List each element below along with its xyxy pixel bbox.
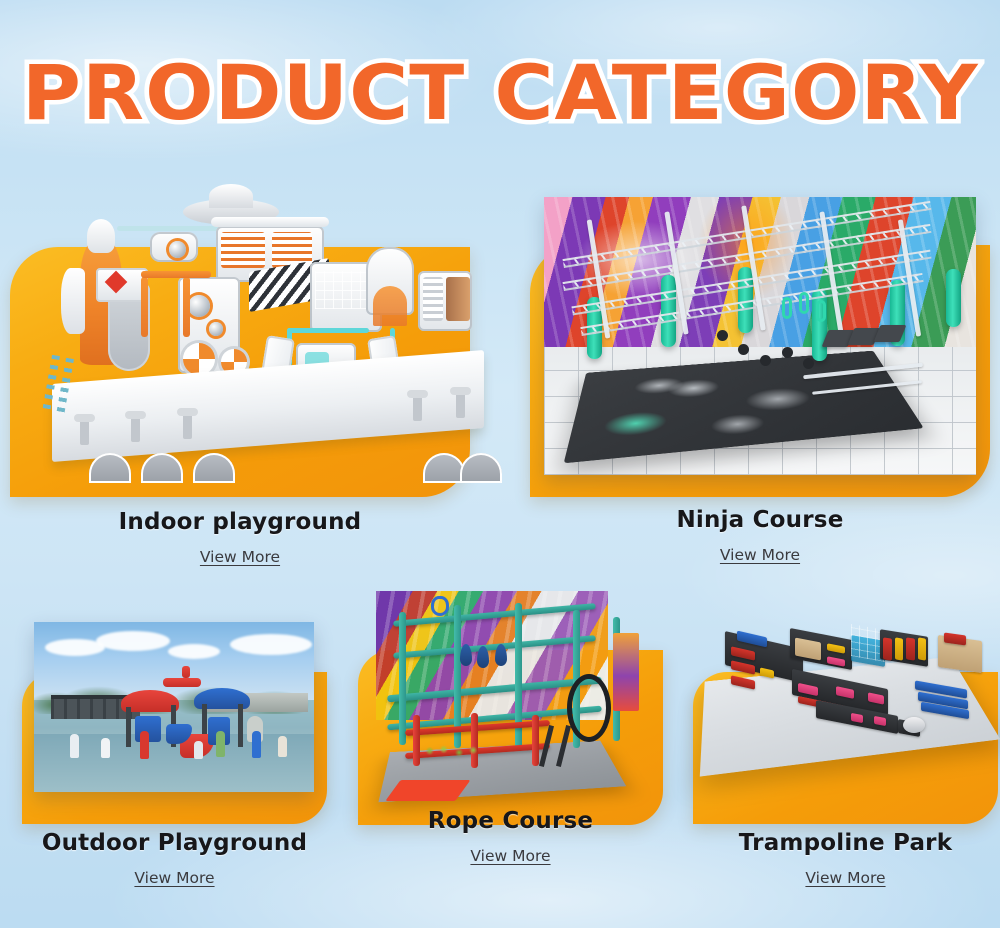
category-image-outdoor-playground [34, 622, 314, 792]
caption-rope-course: Rope Course View More [358, 808, 663, 866]
category-title-trampoline-park: Trampoline Park [693, 830, 998, 856]
category-title-indoor-playground: Indoor playground [10, 509, 470, 535]
page-title: PRODUCT CATEGORY [22, 48, 979, 137]
category-card-rope-course[interactable]: Rope Course View More [358, 650, 663, 825]
view-more-link-rope-course[interactable]: View More [470, 847, 550, 865]
category-image-ninja-course [544, 197, 976, 475]
category-title-rope-course: Rope Course [358, 808, 663, 834]
category-title-outdoor-playground: Outdoor Playground [22, 830, 327, 856]
page-title-wrapper: PRODUCT CATEGORY [0, 48, 1000, 137]
category-card-outdoor-playground[interactable]: Outdoor Playground View More [22, 672, 327, 824]
view-more-link-trampoline-park[interactable]: View More [805, 869, 885, 887]
caption-outdoor-playground: Outdoor Playground View More [22, 830, 327, 888]
view-more-link-ninja-course[interactable]: View More [720, 546, 800, 564]
category-image-rope-course [364, 582, 654, 812]
category-image-trampoline-park [699, 620, 991, 800]
category-title-ninja-course: Ninja Course [530, 507, 990, 533]
category-card-indoor-playground[interactable]: Indoor playground View More [10, 247, 470, 497]
category-image-indoor-playground [28, 187, 498, 487]
caption-indoor-playground: Indoor playground View More [10, 509, 470, 567]
view-more-link-indoor-playground[interactable]: View More [200, 548, 280, 566]
product-category-page: PRODUCT CATEGORY [0, 0, 1000, 928]
view-more-link-outdoor-playground[interactable]: View More [134, 869, 214, 887]
caption-trampoline-park: Trampoline Park View More [693, 830, 998, 888]
caption-ninja-course: Ninja Course View More [530, 507, 990, 565]
category-card-ninja-course[interactable]: Ninja Course View More [530, 245, 990, 497]
category-card-trampoline-park[interactable]: Trampoline Park View More [693, 672, 998, 824]
